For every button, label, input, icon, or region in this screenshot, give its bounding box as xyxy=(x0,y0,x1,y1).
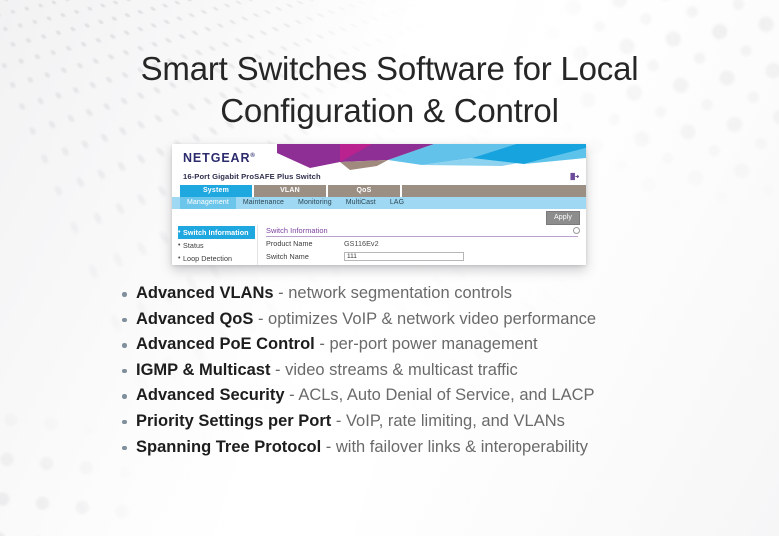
page-title: Smart Switches Software for Local Config… xyxy=(0,48,779,132)
list-item: Spanning Tree Protocol - with failover l… xyxy=(120,435,720,461)
field-row-mac-address: MAC Address 00-18-e7-86-16-58 xyxy=(266,263,578,265)
switch-ui-screenshot: NETGEAR® 16-Port Gigabit ProSAFE Plus Sw… xyxy=(172,144,586,265)
sub-tab-bar[interactable]: Management Maintenance Monitoring MultiC… xyxy=(172,197,586,209)
feature-term: Spanning Tree Protocol xyxy=(136,438,321,456)
subtab-multicast[interactable]: MultiCast xyxy=(339,197,383,209)
list-item: Advanced QoS - optimizes VoIP & network … xyxy=(120,307,720,333)
feature-desc: - per-port power management xyxy=(315,335,538,353)
netgear-logo: NETGEAR® xyxy=(183,151,255,165)
list-item: Priority Settings per Port - VoIP, rate … xyxy=(120,409,720,435)
logout-icon[interactable] xyxy=(570,172,579,181)
switch-ui-body: Switch Information Status Loop Detection… xyxy=(172,225,586,265)
switch-information-panel: Switch Information Product Name GS116Ev2… xyxy=(258,225,586,265)
subtab-management[interactable]: Management xyxy=(180,197,236,209)
main-tab-bar[interactable]: System VLAN QoS xyxy=(172,185,586,197)
feature-desc: - with failover links & interoperability xyxy=(321,438,588,456)
page-title-line-2: Configuration & Control xyxy=(0,90,779,132)
sidebar-item-loop-detection[interactable]: Loop Detection xyxy=(178,252,257,265)
panel-title: Switch Information xyxy=(266,226,578,237)
list-item: Advanced PoE Control - per-port power ma… xyxy=(120,332,720,358)
netgear-wordmark: NETGEAR xyxy=(183,151,250,165)
feature-term: Priority Settings per Port xyxy=(136,412,331,430)
subtab-maintenance[interactable]: Maintenance xyxy=(236,197,291,209)
switch-model-line: 16-Port Gigabit ProSAFE Plus Switch xyxy=(172,171,586,185)
field-row-product-name: Product Name GS116Ev2 xyxy=(266,237,578,250)
apply-row: Apply xyxy=(172,209,586,225)
list-item: Advanced VLANs - network segmentation co… xyxy=(120,281,720,307)
feature-term: Advanced PoE Control xyxy=(136,335,315,353)
feature-desc: - ACLs, Auto Denial of Service, and LACP xyxy=(285,386,595,404)
tab-vlan[interactable]: VLAN xyxy=(254,185,326,197)
feature-term: Advanced QoS xyxy=(136,310,253,328)
page-title-line-1: Smart Switches Software for Local xyxy=(0,48,779,90)
feature-term: IGMP & Multicast xyxy=(136,361,270,379)
field-label-switch-name: Switch Name xyxy=(266,252,344,261)
feature-term: Advanced VLANs xyxy=(136,284,274,302)
switch-ui-sidebar[interactable]: Switch Information Status Loop Detection xyxy=(172,225,258,265)
sidebar-item-switch-information[interactable]: Switch Information xyxy=(178,226,255,239)
subtab-monitoring[interactable]: Monitoring xyxy=(291,197,339,209)
tab-system[interactable]: System xyxy=(180,185,252,197)
feature-desc: - network segmentation controls xyxy=(274,284,512,302)
apply-button[interactable]: Apply xyxy=(546,211,580,225)
tab-bar-filler xyxy=(402,185,586,197)
feature-desc: - VoIP, rate limiting, and VLANs xyxy=(331,412,565,430)
switch-name-input[interactable] xyxy=(344,252,464,261)
feature-desc: - video streams & multicast traffic xyxy=(270,361,517,379)
field-row-switch-name: Switch Name xyxy=(266,250,578,263)
feature-desc: - optimizes VoIP & network video perform… xyxy=(253,310,596,328)
field-label-product-name: Product Name xyxy=(266,239,344,248)
field-value-product-name: GS116Ev2 xyxy=(344,239,379,248)
switch-model-label: 16-Port Gigabit ProSAFE Plus Switch xyxy=(183,172,321,181)
tab-qos[interactable]: QoS xyxy=(328,185,400,197)
list-item: IGMP & Multicast - video streams & multi… xyxy=(120,358,720,384)
netgear-trademark: ® xyxy=(250,153,254,159)
subtab-lag[interactable]: LAG xyxy=(383,197,411,209)
feature-list: Advanced VLANs - network segmentation co… xyxy=(120,281,720,460)
sidebar-item-status[interactable]: Status xyxy=(178,239,257,252)
refresh-icon[interactable] xyxy=(573,227,580,234)
list-item: Advanced Security - ACLs, Auto Denial of… xyxy=(120,383,720,409)
netgear-banner: NETGEAR® xyxy=(172,144,586,171)
feature-term: Advanced Security xyxy=(136,386,285,404)
